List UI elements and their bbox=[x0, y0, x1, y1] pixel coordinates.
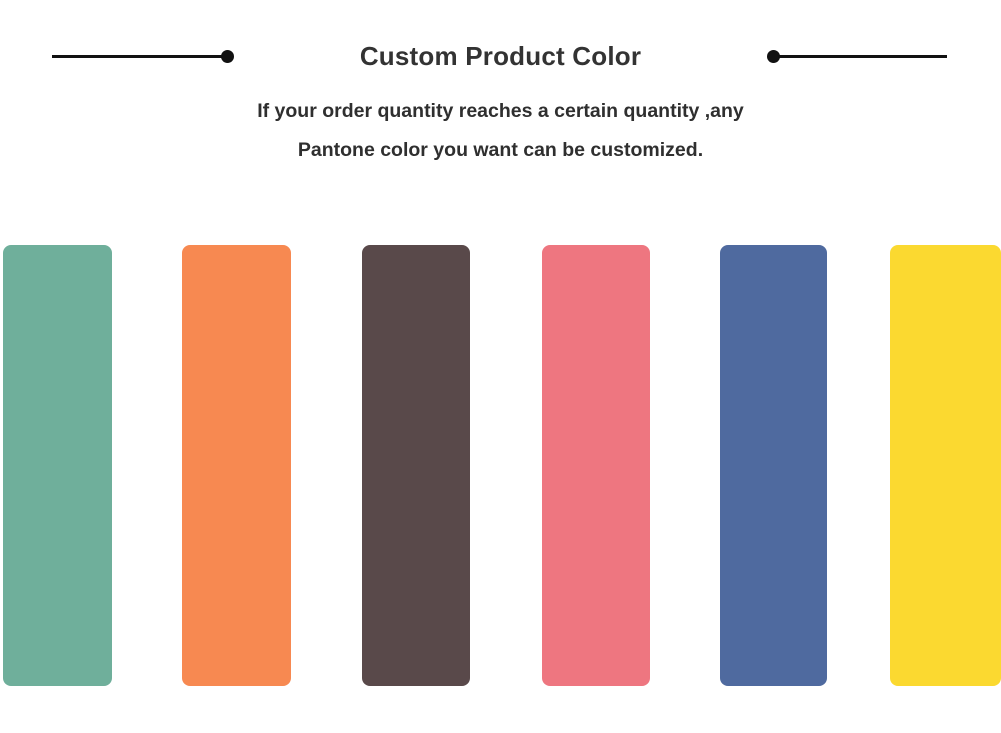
color-swatch-row bbox=[0, 245, 1001, 686]
color-swatch-denim-blue[interactable] bbox=[720, 245, 827, 686]
divider-line-right bbox=[770, 55, 947, 58]
color-swatch-dark-brown[interactable] bbox=[362, 245, 470, 686]
color-swatch-sage-green[interactable] bbox=[3, 245, 112, 686]
header: Custom Product Color bbox=[0, 34, 1001, 78]
subtitle-line-2: Pantone color you want can be customized… bbox=[0, 131, 1001, 170]
divider-dot-right-icon bbox=[767, 50, 780, 63]
color-swatch-orange[interactable] bbox=[182, 245, 291, 686]
color-swatch-lemon-yellow[interactable] bbox=[890, 245, 1001, 686]
subtitle-line-1: If your order quantity reaches a certain… bbox=[0, 92, 1001, 131]
custom-product-color-banner: Custom Product Color If your order quant… bbox=[0, 0, 1001, 733]
color-swatch-coral-pink[interactable] bbox=[542, 245, 650, 686]
subtitle: If your order quantity reaches a certain… bbox=[0, 92, 1001, 170]
